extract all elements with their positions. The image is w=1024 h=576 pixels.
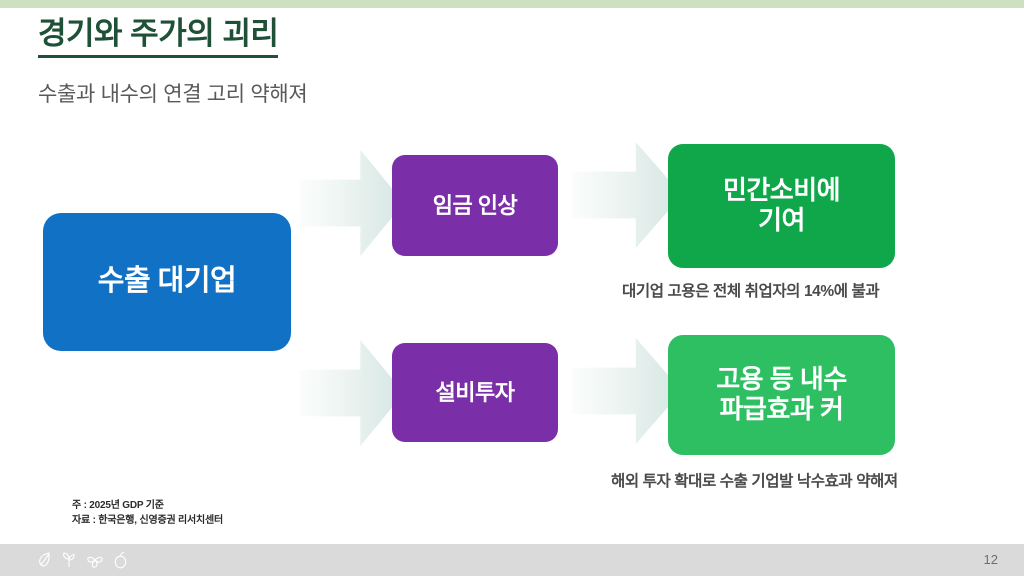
page-subtitle: 수출과 내수의 연결 고리 약해져 <box>38 78 307 108</box>
footer-bar <box>0 544 1024 576</box>
flow-box-capital-investment-label: 설비투자 <box>436 380 515 405</box>
slide-canvas: 경기와 주가의 괴리 수출과 내수의 연결 고리 약해져 수출 대기업 임금 인… <box>0 0 1024 576</box>
flow-box-source: 수출 대기업 <box>43 213 291 351</box>
footnote-note: 주 : 2025년 GDP 기준 <box>72 499 223 514</box>
arrow-wage-to-consumption-icon <box>572 142 682 248</box>
page-number: 12 <box>984 552 998 567</box>
flow-box-private-consumption-label: 민간소비에 기여 <box>723 176 840 236</box>
flow-box-private-consumption-line1: 민간소비에 <box>723 175 840 205</box>
arrow-source-to-wage-icon <box>300 150 404 256</box>
flow-box-wage-increase: 임금 인상 <box>392 155 558 256</box>
footnote-source: 자료 : 한국은행, 신영증권 리서치센터 <box>72 514 223 529</box>
top-accent-bar <box>0 0 1024 8</box>
caption-domestic-demand: 해외 투자 확대로 수출 기업발 낙수효과 약해져 <box>611 469 898 491</box>
page-title: 경기와 주가의 괴리 <box>38 16 278 58</box>
bud-icon <box>113 551 128 569</box>
flow-box-domestic-demand-line1: 고용 등 내수 <box>716 364 847 394</box>
footnotes: 주 : 2025년 GDP 기준 자료 : 한국은행, 신영증권 리서치센터 <box>72 499 223 528</box>
flow-box-domestic-demand-label: 고용 등 내수 파급효과 커 <box>716 365 847 425</box>
footer-icon-group <box>36 551 128 569</box>
leaf-outline-icon <box>36 551 52 569</box>
arrow-source-to-capex-icon <box>300 340 404 446</box>
flow-box-private-consumption-line2: 기여 <box>758 205 805 235</box>
flow-box-domestic-demand-line2: 파급효과 커 <box>720 394 844 424</box>
flow-box-domestic-demand: 고용 등 내수 파급효과 커 <box>668 335 895 455</box>
flow-box-private-consumption: 민간소비에 기여 <box>668 144 895 268</box>
sprout-icon <box>61 551 77 569</box>
arrow-capex-to-domestic-icon <box>572 338 682 444</box>
caption-private-consumption: 대기업 고용은 전체 취업자의 14%에 불과 <box>622 279 879 301</box>
clover-icon <box>86 551 104 569</box>
flow-box-wage-increase-label: 임금 인상 <box>433 193 518 218</box>
flow-box-capital-investment: 설비투자 <box>392 343 558 442</box>
flow-box-source-label: 수출 대기업 <box>98 265 236 298</box>
